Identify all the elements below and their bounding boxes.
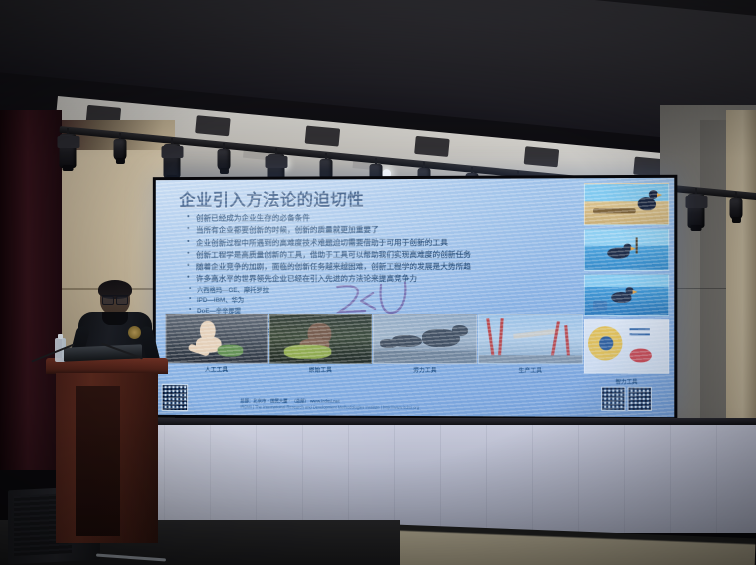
slide-right-panel-column: 智力工具 (584, 183, 669, 386)
led-screen-surface: 企业引入方法论的迫切性 创新已经成为企业生存的必备条件当所有企业都要创新的时候，… (156, 178, 675, 417)
presenter-shirt-emblem (128, 326, 141, 339)
led-video-wall: 企业引入方法论的迫切性 创新已经成为企业生存的必备条件当所有企业都要创新的时候，… (153, 175, 678, 420)
slide-photo-4: 生产工具 (478, 314, 583, 374)
slide-photo-1: 人工工具 (166, 314, 268, 374)
slide-right-panel-3 (584, 274, 669, 316)
slide-photo-2-caption: 原始工具 (269, 366, 372, 374)
handwritten-annotation-icon (331, 279, 431, 321)
slide-photo-1-caption: 人工工具 (166, 365, 268, 373)
slide-footer: 总部：北京市 · 国贸大厦 · （总部） www.irdmi.net IRDMI… (240, 399, 419, 410)
slide-photo-3: 劳力工具 (373, 314, 477, 374)
slide-photo-3-caption: 劳力工具 (373, 366, 477, 374)
slide-right-panel-4-caption: 智力工具 (584, 378, 669, 386)
qr-code-bottom-right-1 (601, 387, 625, 411)
stage-floor-sheen (108, 425, 756, 533)
podium (46, 358, 168, 543)
slide-right-panel-2 (584, 228, 669, 270)
slide-photo-2: 原始工具 (269, 314, 372, 374)
slide-right-panel-1 (584, 183, 669, 226)
qr-code-bottom-right-2 (628, 387, 652, 411)
slide-photo-strip: 人工工具 原始工具 (166, 314, 583, 375)
slide-right-panel-4 (584, 319, 669, 374)
slide-photo-4-caption: 生产工具 (478, 366, 583, 374)
eyeglasses-icon (102, 295, 128, 303)
presentation-hall-photo: 企业引入方法论的迫切性 创新已经成为企业生存的必备条件当所有企业都要创新的时候，… (0, 0, 756, 565)
presenter-collar (102, 312, 128, 325)
podium-front-inset (76, 386, 120, 536)
slide-footer-line-2: IRDMI | The International Research and D… (240, 404, 419, 410)
stage-back-edge (108, 418, 756, 425)
